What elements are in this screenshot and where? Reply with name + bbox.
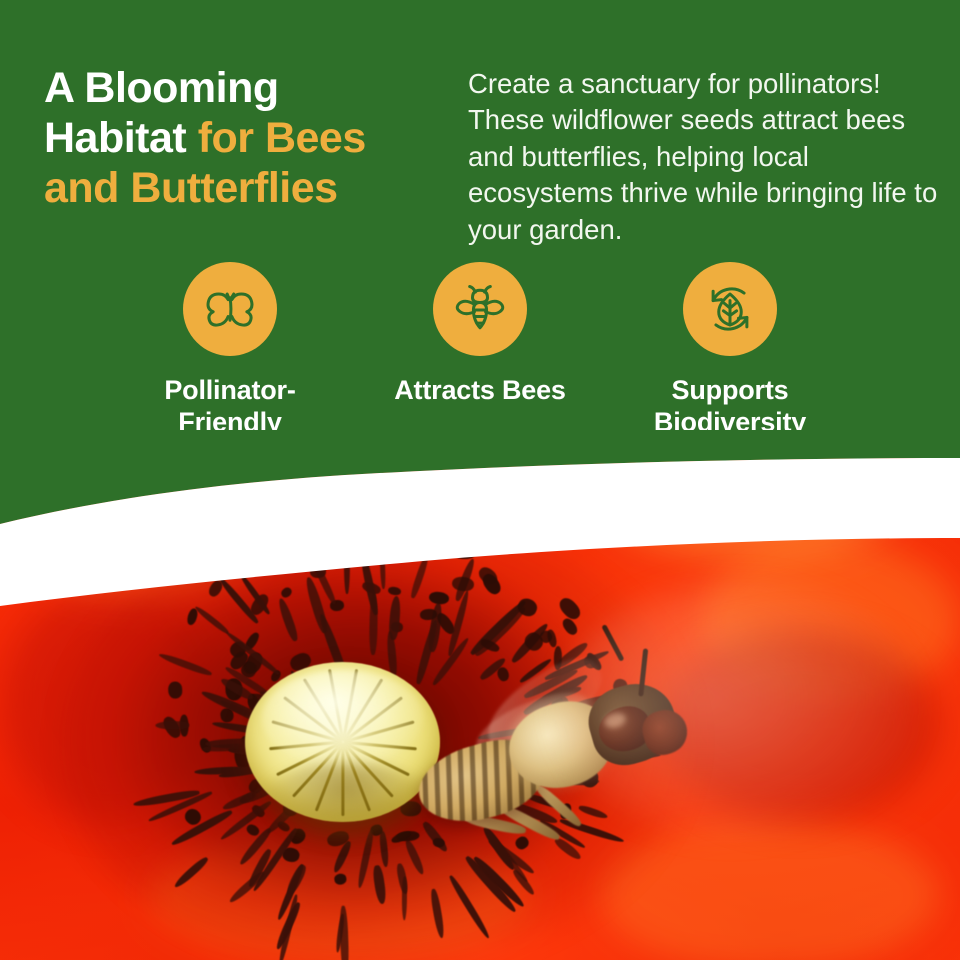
infographic-poster: A BloomingHabitat for Beesand Butterflie…	[0, 0, 960, 960]
stamen	[372, 865, 387, 905]
stamen	[388, 595, 401, 639]
anther	[333, 873, 347, 885]
photo-artwork	[0, 430, 960, 960]
page-title: A BloomingHabitat for Beesand Butterflie…	[44, 63, 454, 214]
headline-line-2-white: Habitat	[44, 114, 198, 162]
stamen	[429, 888, 446, 939]
anther	[429, 590, 451, 605]
stamen	[158, 651, 213, 677]
headline-line-1: A Blooming	[44, 64, 279, 112]
poppy-bee-photo	[0, 430, 960, 960]
anther	[480, 571, 503, 596]
anther	[453, 546, 476, 560]
leaf-cycle-icon	[700, 279, 760, 339]
headline-line-3-gold: and Butterflies	[44, 164, 338, 212]
feature-item-attracts-bees: Attracts Bees	[355, 262, 605, 407]
stamen	[170, 808, 233, 847]
stamen	[193, 604, 230, 635]
feature-item-pollinator-friendly: Pollinator- Friendly	[105, 262, 355, 439]
anther	[546, 629, 558, 648]
butterfly-icon	[200, 279, 260, 339]
stamen	[395, 863, 409, 895]
body-copy: Create a sanctuary for pollinators! Thes…	[468, 66, 938, 249]
anther	[561, 616, 580, 637]
translucent-petal-veil	[560, 580, 920, 840]
bee-icon-badge	[433, 262, 527, 356]
anther	[168, 681, 183, 698]
stamen	[276, 597, 299, 642]
anther	[451, 576, 474, 593]
anther	[388, 586, 402, 597]
stamen	[156, 721, 190, 730]
stamen	[172, 855, 210, 890]
bee-icon	[450, 279, 510, 339]
anther	[556, 595, 583, 622]
feature-label-attracts-bees: Attracts Bees	[365, 375, 595, 407]
butterfly-icon-badge	[183, 262, 277, 356]
stamen	[404, 840, 427, 877]
leaf-cycle-icon-badge	[683, 262, 777, 356]
headline-line-2-gold: for Bees	[198, 114, 366, 162]
feature-item-supports-biodiversity: Supports Biodiversity	[605, 262, 855, 439]
